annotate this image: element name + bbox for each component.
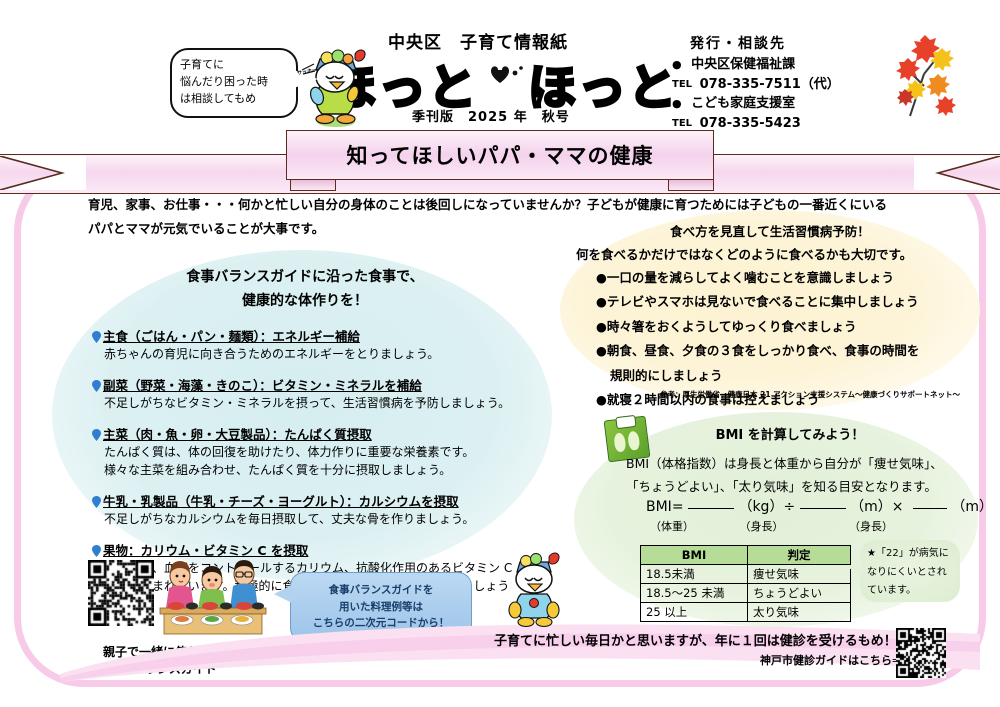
bubble-line-1: 子育てに bbox=[180, 56, 288, 73]
table-cell-judgement: 痩せ気味 bbox=[748, 565, 851, 584]
bmi-height1-blank[interactable] bbox=[800, 508, 846, 509]
bmi-desc-line-2: 「ちょうどよい」、「太り気味」を知る目安となります。 bbox=[626, 475, 976, 498]
food-balance-item-head: 副菜（野菜・海藻・きのこ）：ビタミン・ミネラルを補給 bbox=[92, 375, 522, 394]
section-title: 知ってほしいパパ・ママの健康 bbox=[347, 140, 654, 170]
bmi-title: BMI を計算してみよう！ bbox=[640, 424, 940, 443]
duck-mascot-bottom bbox=[503, 548, 565, 632]
bmi-desc-line-1: BMI（体格指数）は身長と体重から自分が「痩せ気味」、 bbox=[626, 452, 976, 475]
table-cell-bmi-range: 18.5未満 bbox=[641, 565, 748, 584]
bmi-note-line-3: ています。 bbox=[867, 582, 953, 601]
contact-tel-2: 078-335-5423 bbox=[700, 116, 801, 131]
bmi-bubble-tail bbox=[846, 560, 862, 574]
qr-bubble-tail bbox=[274, 585, 292, 603]
ribbon-left-chevron bbox=[0, 156, 86, 190]
bullet-icon-2: ● bbox=[672, 97, 682, 110]
contact-org-2: こども家庭支援室 bbox=[691, 96, 795, 111]
ribbon-fold-left bbox=[290, 180, 336, 191]
food-balance-head-text: 主菜（肉・魚・卵・大豆製品）：たんぱく質摂取 bbox=[103, 427, 372, 442]
bmi-note-line-1: ★「22」が病気に bbox=[867, 545, 953, 564]
food-balance-item-head: 主菜（肉・魚・卵・大豆製品）：たんぱく質摂取 bbox=[92, 424, 522, 443]
pin-icon bbox=[92, 380, 101, 392]
bmi-height2-blank[interactable] bbox=[913, 508, 947, 509]
bmi-label-height-1: （身長） bbox=[740, 518, 846, 534]
bubble-line-2: 悩んだり困った時 bbox=[180, 73, 288, 90]
section-title-banner: 知ってほしいパパ・ママの健康 bbox=[286, 130, 714, 180]
eating-habits-item: ●時々箸をおくようしてゆっくり食べましょう bbox=[596, 315, 986, 339]
food-balance-item: 副菜（野菜・海藻・きのこ）：ビタミン・ミネラルを補給 不足しがちなビタミン・ミネ… bbox=[92, 375, 522, 412]
issue-subtitle: 季刊版 2025 年 秋号 bbox=[412, 106, 570, 125]
bmi-description: BMI（体格指数）は身長と体重から自分が「痩せ気味」、 「ちょうどよい」、「太り… bbox=[626, 452, 976, 498]
reference-note: 参考：厚生労働省－健康日本 21 アクション支援システム～健康づくりサポートネッ… bbox=[660, 389, 960, 400]
food-balance-body-line: 不足しがちなビタミン・ミネラルを摂って、生活習慣病を予防しましょう。 bbox=[104, 394, 522, 412]
eating-habits-item-continued: 規則的にしましょう bbox=[610, 364, 986, 388]
maple-leaves-decoration bbox=[890, 34, 960, 120]
newsletter-page: 中央区 子育て情報紙 ほっと ほっと 季刊版 2025 年 秋号 bbox=[0, 0, 1000, 707]
bullet-icon: ● bbox=[672, 58, 682, 71]
food-balance-item: 牛乳・乳製品（牛乳・チーズ・ヨーグルト）：カルシウムを摂取 不足しがちなカルシウ… bbox=[92, 491, 522, 528]
table-row: 18.5～25 未満 ちょうどよい bbox=[641, 584, 851, 603]
logo-wordmark: ほっと ほっと bbox=[328, 48, 678, 106]
bubble-line-3: は相談してもめ bbox=[180, 90, 288, 107]
contact-tel-1: 078-335-7511（代） bbox=[700, 77, 840, 92]
pin-icon bbox=[92, 429, 101, 441]
contact-title: 発行・相談先 bbox=[690, 34, 840, 55]
bmi-label-height-2: （身長） bbox=[849, 520, 893, 533]
table-cell-judgement: ちょうどよい bbox=[748, 584, 851, 603]
eating-habits-title: 食べ方を見直して生活習慣病予防！ bbox=[600, 221, 940, 240]
food-balance-item-head: 果物：カリウム・ビタミン C を摂取 bbox=[92, 540, 522, 559]
food-balance-title-line-2: 健康的な体作りを！ bbox=[120, 290, 490, 314]
eating-habits-item: ●一口の量を減らしてよく噛むことを意識しましょう bbox=[596, 266, 986, 290]
table-header-bmi: BMI bbox=[641, 546, 748, 565]
food-balance-body-line: 不足しがちなカルシウムを毎日摂取して、丈夫な骨を作りましょう。 bbox=[104, 510, 522, 528]
mascot-speech-bubble: 子育てに 悩んだり困った時 は相談してもめ bbox=[170, 48, 298, 118]
tel-label-1: TEL bbox=[672, 79, 692, 90]
contact-row-3: ● こども家庭支援室 bbox=[672, 94, 840, 114]
bmi-formula-prefix: BMI= bbox=[646, 499, 684, 515]
table-header-row: BMI 判定 bbox=[641, 546, 851, 565]
scale-footprint-right bbox=[627, 431, 640, 451]
pin-icon bbox=[92, 496, 101, 508]
ribbon-right-chevron bbox=[914, 156, 1000, 190]
food-balance-body-line: 様々な主菜を組み合わせ、たんぱく質を十分に摂取しましょう。 bbox=[104, 461, 522, 479]
contact-block: 発行・相談先 ● 中央区保健福祉課 TEL 078-335-7511（代） ● … bbox=[672, 34, 840, 133]
food-balance-head-text: 主食（ごはん・パン・麺類）：エネルギー補給 bbox=[103, 329, 360, 344]
food-balance-item-head: 牛乳・乳製品（牛乳・チーズ・ヨーグルト）：カルシウムを摂取 bbox=[92, 491, 522, 510]
food-balance-head-text: 牛乳・乳製品（牛乳・チーズ・ヨーグルト）：カルシウムを摂取 bbox=[103, 494, 459, 509]
food-balance-body-line: 赤ちゃんの育児に向き合うためのエネルギーをとりましょう。 bbox=[104, 345, 522, 363]
bmi-unit-m1: （m）× bbox=[850, 499, 903, 515]
ribbon-fold-right bbox=[668, 180, 714, 191]
eating-habits-item: ●朝食、昼食、夕食の３食をしっかり食べ、食事の時間を bbox=[596, 339, 986, 363]
qr-bubble-line-1: 食事バランスガイドを bbox=[329, 582, 434, 599]
food-balance-item-head: 主食（ごはん・パン・麺類）：エネルギー補給 bbox=[92, 326, 522, 345]
bmi-unit-m2: （m） bbox=[951, 499, 993, 515]
table-row: 18.5未満 痩せ気味 bbox=[641, 565, 851, 584]
bmi-table: BMI 判定 18.5未満 痩せ気味 18.5～25 未満 ちょうどよい 25 … bbox=[640, 545, 851, 622]
contact-org-1: 中央区保健福祉課 bbox=[691, 57, 795, 72]
bmi-note-bubble: ★「22」が病気に なりにくいとされ ています。 bbox=[860, 540, 960, 602]
food-balance-item: 主菜（肉・魚・卵・大豆製品）：たんぱく質摂取 たんぱく質は、体の回復を助けたり、… bbox=[92, 424, 522, 479]
bmi-weight-blank[interactable] bbox=[688, 508, 734, 509]
bmi-formula-labels: （体重） （身長） （身長） bbox=[650, 518, 893, 534]
action-lines-icon bbox=[300, 58, 322, 80]
table-header-judgement: 判定 bbox=[748, 546, 851, 565]
food-balance-item: 主食（ごはん・パン・麺類）：エネルギー補給 赤ちゃんの育児に向き合うためのエネル… bbox=[92, 326, 522, 363]
bmi-unit-kg: （kg）÷ bbox=[738, 499, 795, 515]
scale-footprint-left bbox=[613, 432, 626, 452]
heart-icon bbox=[488, 62, 528, 88]
food-balance-list: 主食（ごはん・パン・麺類）：エネルギー補給 赤ちゃんの育児に向き合うためのエネル… bbox=[92, 326, 522, 607]
table-cell-bmi-range: 18.5～25 未満 bbox=[641, 584, 748, 603]
food-balance-title-line-1: 食事バランスガイドに沿った食事で、 bbox=[120, 266, 490, 290]
eating-habits-item: ●テレビやスマホは見ないで食べることに集中しましょう bbox=[596, 290, 986, 314]
contact-row-1: ● 中央区保健福祉課 bbox=[672, 55, 840, 75]
footer-subtext: 神戸市健診ガイドはこちら⇒ bbox=[760, 652, 901, 668]
eating-habits-lead: 何を食べるかだけではなくどのように食べるかも大切です。 bbox=[576, 244, 912, 263]
tel-label-2: TEL bbox=[672, 118, 692, 129]
bmi-label-weight: （体重） bbox=[650, 518, 736, 534]
food-balance-title: 食事バランスガイドに沿った食事で、 健康的な体作りを！ bbox=[120, 266, 490, 314]
kobe-city-checkup-guide-qr-code[interactable] bbox=[896, 628, 946, 678]
food-balance-body-line: たんぱく質は、体の回復を助けたり、体力作りに重要な栄養素です。 bbox=[104, 443, 522, 461]
scale-dial bbox=[615, 415, 636, 429]
bmi-formula: BMI= （kg）÷ （m）× （m） bbox=[646, 496, 993, 516]
footer-message: 子育てに忙しい毎日かと思いますが、年に１回は健診を受けるもめ！ bbox=[494, 630, 897, 649]
food-balance-head-text: 副菜（野菜・海藻・きのこ）：ビタミン・ミネラルを補給 bbox=[103, 378, 422, 393]
pin-icon bbox=[92, 545, 101, 557]
pin-icon bbox=[92, 331, 101, 343]
food-balance-head-text: 果物：カリウム・ビタミン C を摂取 bbox=[103, 543, 308, 558]
bmi-note-line-2: なりにくいとされ bbox=[867, 564, 953, 583]
contact-row-2: TEL 078-335-7511（代） bbox=[672, 75, 840, 95]
